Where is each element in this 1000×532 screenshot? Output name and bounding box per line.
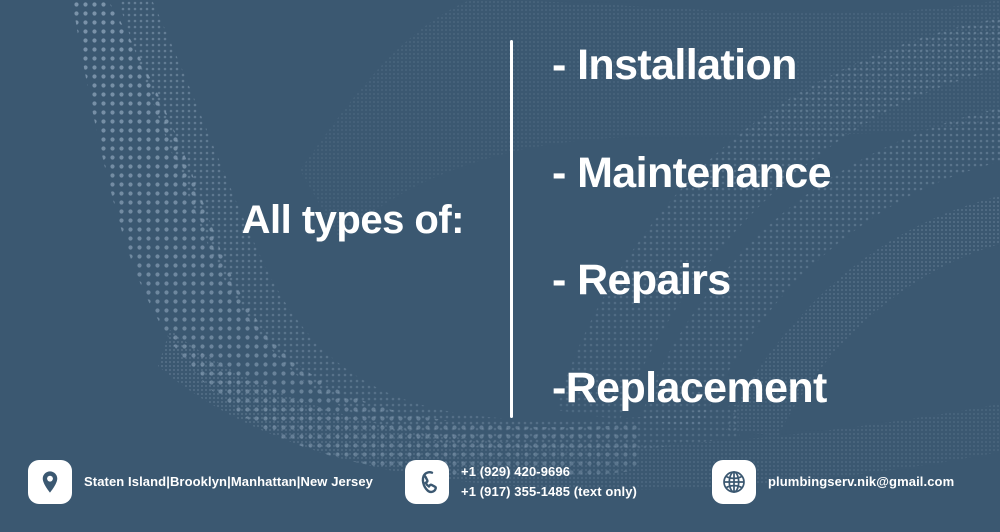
service-item-replacement: -Replacement (552, 367, 982, 410)
phone-primary: +1 (929) 420-9696 (461, 465, 637, 479)
location-pin-icon (28, 460, 72, 504)
contact-email: plumbingserv.nik@gmail.com (712, 460, 954, 504)
promo-banner: All types of: - Installation - Maintenan… (0, 0, 1000, 532)
vertical-divider (510, 40, 513, 418)
phone-text-block: +1 (929) 420-9696 +1 (917) 355-1485 (tex… (461, 465, 637, 499)
banner-content: All types of: - Installation - Maintenan… (0, 0, 1000, 440)
email-address: plumbingserv.nik@gmail.com (768, 475, 954, 489)
email-text-block: plumbingserv.nik@gmail.com (768, 475, 954, 489)
lead-text: All types of: (242, 198, 464, 243)
contact-footer: Staten Island|Brooklyn|Manhattan|New Jer… (0, 452, 1000, 532)
service-item-maintenance: - Maintenance (552, 152, 982, 195)
service-item-installation: - Installation (552, 44, 982, 87)
services-list: - Installation - Maintenance - Repairs -… (552, 40, 982, 418)
lead-text-area: All types of: (0, 0, 500, 440)
contact-location: Staten Island|Brooklyn|Manhattan|New Jer… (28, 460, 373, 504)
contact-phone: +1 (929) 420-9696 +1 (917) 355-1485 (tex… (405, 460, 637, 504)
service-areas-text: Staten Island|Brooklyn|Manhattan|New Jer… (84, 475, 373, 489)
phone-secondary: +1 (917) 355-1485 (text only) (461, 485, 637, 499)
phone-icon (405, 460, 449, 504)
service-item-repairs: - Repairs (552, 259, 982, 302)
location-text-block: Staten Island|Brooklyn|Manhattan|New Jer… (84, 475, 373, 489)
globe-icon (712, 460, 756, 504)
